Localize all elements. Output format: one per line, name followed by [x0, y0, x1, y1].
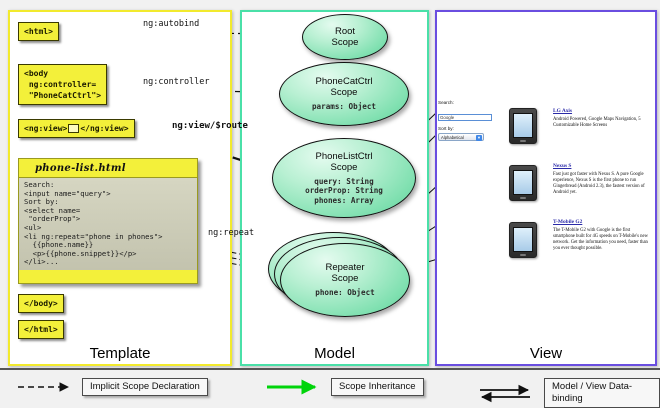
diagram-canvas: Template Model View <html> <body ng:cont…	[0, 0, 660, 405]
legend-label-model-view-data-binding: Model / View Data-binding	[544, 378, 660, 408]
scope-phonecatctrl-title-line2: Scope	[331, 87, 358, 98]
phone-snippet: Android Powered, Google Maps Navigation,…	[553, 117, 651, 129]
sort-by-select[interactable]: Alphabetical ▼	[438, 133, 484, 141]
label-ng-view-route: ng:view/$route	[172, 121, 248, 131]
sort-by-label: Sort by:	[438, 126, 498, 132]
scope-root-title: Root Scope	[332, 26, 359, 48]
legend-item-scope-inheritance: Scope Inheritance	[265, 378, 424, 396]
sort-by-value: Alphabetical	[441, 135, 464, 140]
tag-html-open: <html>	[18, 22, 59, 41]
tag-html-close: </html>	[18, 320, 64, 339]
panel-template-label: Template	[10, 345, 230, 362]
phone-name-link[interactable]: Nexus S	[553, 163, 651, 169]
phone-screen	[513, 113, 533, 138]
scope-repeater: Repeater Scope phone: Object	[280, 243, 410, 317]
phone-thumbnail	[509, 165, 537, 201]
code-note-phone-list: phone-list.html Search: <input name="que…	[18, 158, 198, 284]
phone-home-button-icon	[520, 254, 526, 256]
scope-phonecatctrl-title: PhoneCatCtrl Scope	[315, 76, 372, 98]
search-input[interactable]	[438, 114, 492, 121]
phone-screen	[513, 170, 533, 195]
scope-phonelistctrl-title-line2: Scope	[331, 162, 358, 173]
legend-item-implicit-scope-declaration: Implicit Scope Declaration	[16, 378, 208, 396]
phone-home-button-icon	[520, 140, 526, 142]
ngview-slot-icon	[68, 124, 79, 133]
legend-item-model-view-data-binding: Model / View Data-binding	[478, 378, 660, 408]
scope-phonelistctrl: PhoneListCtrl Scope query: String orderP…	[272, 138, 416, 218]
tag-ngview-open: <ng:view>	[24, 124, 67, 133]
phone-snippet: The T-Mobile G2 with Google is the first…	[553, 228, 651, 252]
phone-name-link[interactable]: LG Axis	[553, 108, 651, 114]
scope-phonelistctrl-title: PhoneListCtrl Scope	[315, 151, 372, 173]
scope-root-title-line1: Root	[335, 26, 355, 37]
panel-view-label: View	[437, 345, 655, 362]
scope-repeater-title: Repeater Scope	[325, 262, 364, 284]
tag-ngview: <ng:view></ng:view>	[18, 119, 135, 138]
dashed-arrow-icon	[16, 381, 74, 393]
list-item: Nexus S Fast just got faster with Nexus …	[553, 163, 651, 196]
label-ng-repeat: ng:repeat	[208, 228, 254, 238]
scope-repeater-title-line1: Repeater	[325, 262, 364, 273]
view-search-form: Search: Sort by: Alphabetical ▼	[438, 100, 498, 141]
scope-phonelistctrl-props: query: String orderProp: String phones: …	[305, 177, 383, 205]
list-item: T-Mobile G2 The T-Mobile G2 with Google …	[553, 219, 651, 252]
list-item: LG Axis Android Powered, Google Maps Nav…	[553, 108, 651, 129]
phone-thumbnail	[509, 222, 537, 258]
legend: Implicit Scope Declaration Scope Inherit…	[0, 368, 660, 407]
tag-ngview-close: </ng:view>	[80, 124, 128, 133]
scope-repeater-title-line2: Scope	[332, 273, 359, 284]
tag-body-open: <body ng:controller= "PhoneCatCtrl">	[18, 64, 107, 105]
scope-root-title-line2: Scope	[332, 37, 359, 48]
legend-label-scope-inheritance: Scope Inheritance	[331, 378, 424, 396]
green-arrow-icon	[265, 381, 323, 393]
scope-phonelistctrl-title-line1: PhoneListCtrl	[315, 151, 372, 162]
tag-body-close: </body>	[18, 294, 64, 313]
code-note-body: Search: <input name="query"> Sort by: <s…	[19, 177, 197, 270]
phone-name-link[interactable]: T-Mobile G2	[553, 219, 651, 225]
scope-root: Root Scope	[302, 14, 388, 60]
scope-repeater-props: phone: Object	[315, 288, 374, 297]
phone-screen	[513, 227, 533, 252]
search-label: Search:	[438, 100, 498, 106]
double-arrow-icon	[478, 385, 536, 401]
chevron-down-icon: ▼	[476, 135, 482, 141]
label-ng-controller: ng:controller	[143, 77, 210, 87]
panel-model-label: Model	[242, 345, 427, 362]
scope-phonecatctrl-props: params: Object	[312, 102, 376, 111]
phone-snippet: Fast just got faster with Nexus S. A pur…	[553, 172, 651, 196]
phone-home-button-icon	[520, 197, 526, 199]
scope-phonecatctrl-title-line1: PhoneCatCtrl	[315, 76, 372, 87]
label-ng-autobind: ng:autobind	[143, 19, 199, 29]
legend-label-implicit-scope-declaration: Implicit Scope Declaration	[82, 378, 208, 396]
phone-thumbnail	[509, 108, 537, 144]
scope-phonecatctrl: PhoneCatCtrl Scope params: Object	[279, 62, 409, 126]
code-note-title: phone-list.html	[19, 159, 197, 177]
